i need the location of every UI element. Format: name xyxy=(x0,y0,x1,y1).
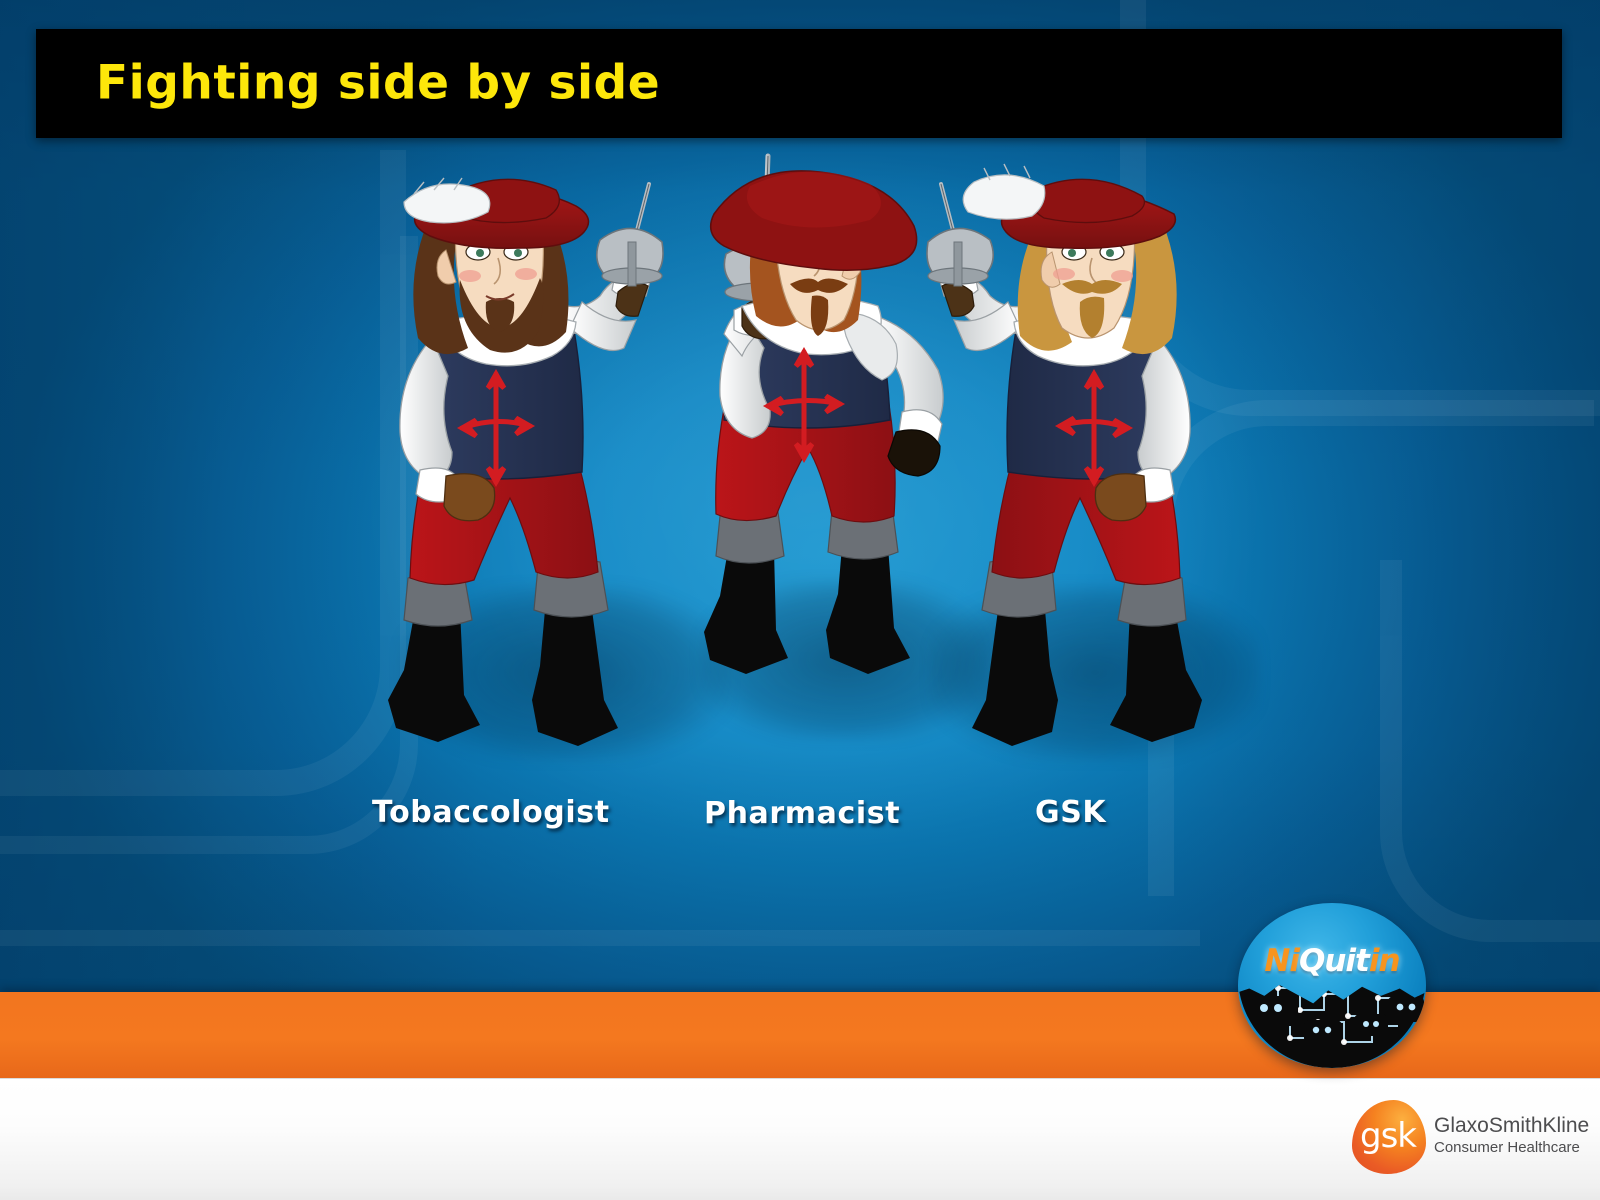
gsk-wordmark: GlaxoSmithKline Consumer Healthcare xyxy=(1434,1115,1589,1156)
figure-label-tobaccologist: Tobaccologist xyxy=(372,795,610,830)
gsk-logo: gsk GlaxoSmithKline Consumer Healthcare xyxy=(1352,1098,1584,1180)
niquitin-text-quit: Quit xyxy=(1299,943,1369,979)
musketeer-illustration xyxy=(900,180,1230,770)
gsk-mark-text: gsk xyxy=(1352,1116,1424,1156)
gsk-company-name: GlaxoSmithKline xyxy=(1434,1115,1589,1138)
niquitin-badge-circle: NiQuitin xyxy=(1238,903,1426,1068)
circuit-graphic xyxy=(1238,976,1426,1068)
gsk-teardrop-icon: gsk xyxy=(1352,1100,1426,1174)
niquitin-text-in: in xyxy=(1369,943,1400,979)
niquitin-text-ni: Ni xyxy=(1264,943,1299,979)
page-title: Fighting side by side xyxy=(96,55,660,110)
niquitin-logo: NiQuitin xyxy=(1238,903,1426,1068)
figure-label-gsk: GSK xyxy=(1035,795,1106,830)
musketeer-illustration xyxy=(360,180,690,770)
niquitin-circuit-pattern xyxy=(1238,976,1426,1068)
musketeer-tobaccologist xyxy=(360,180,690,770)
gsk-division-name: Consumer Healthcare xyxy=(1434,1139,1589,1157)
title-banner: Fighting side by side xyxy=(36,29,1562,138)
figure-label-pharmacist: Pharmacist xyxy=(704,796,900,831)
niquitin-wordmark: NiQuitin xyxy=(1238,946,1426,977)
slide-canvas: Fighting side by side xyxy=(0,0,1600,1200)
musketeer-gsk xyxy=(900,180,1230,770)
